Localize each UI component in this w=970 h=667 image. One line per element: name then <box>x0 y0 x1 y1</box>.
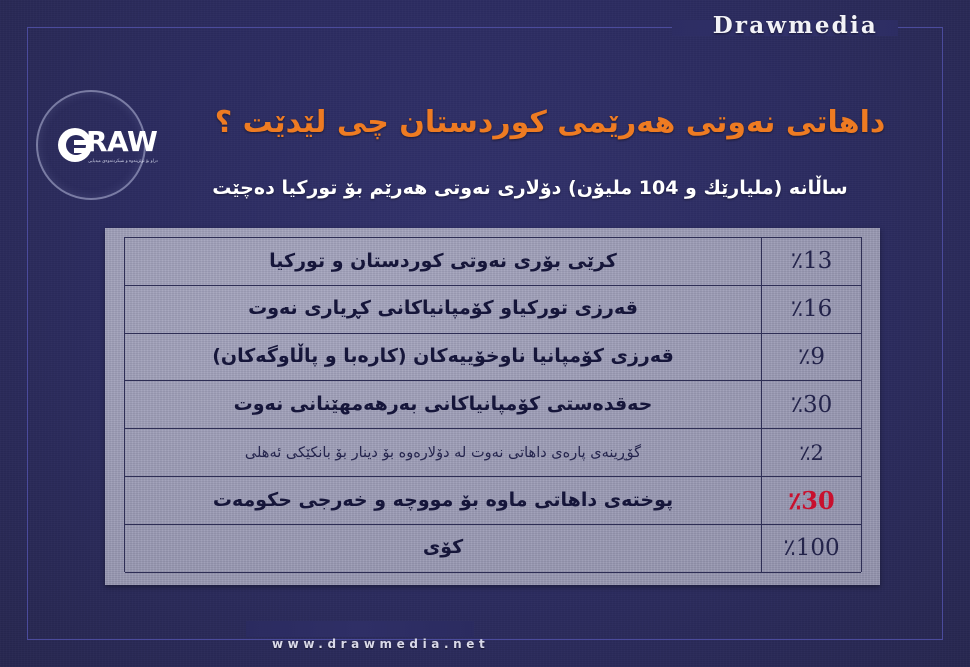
row-label: کۆی <box>125 525 761 572</box>
row-percentage: ٪30 <box>761 477 861 524</box>
footer-website-url: www.drawmedia.net <box>272 637 489 651</box>
logo-wordmark: RAW <box>86 128 157 156</box>
table-row: ٪100کۆی <box>125 525 861 573</box>
breakdown-table: ٪13کرێی بۆری نەوتی کوردستان و تورکیا٪16ق… <box>105 228 880 585</box>
row-label: کرێی بۆری نەوتی کوردستان و تورکیا <box>125 238 761 285</box>
brand-wordmark: Drawmedia <box>713 12 878 39</box>
row-label: حەقدەستی کۆمپانیاکانی بەرهەمهێنانی نەوت <box>125 381 761 428</box>
row-label: قەرزی کۆمپانیا ناوخۆییەکان (کارەبا و پاڵ… <box>125 334 761 381</box>
row-percentage: ٪13 <box>761 238 861 285</box>
row-percentage: ٪100 <box>761 525 861 572</box>
table-row: ٪13کرێی بۆری نەوتی کوردستان و تورکیا <box>125 238 861 286</box>
table-row: ٪16قەرزی تورکیاو کۆمپانیاکانی کڕیاری نەو… <box>125 286 861 334</box>
logo-subtext: دراو بۆ توێژینەوە و شیکردنەوەی میدیایی <box>88 158 158 164</box>
row-percentage: ٪2 <box>761 429 861 476</box>
row-percentage: ٪9 <box>761 334 861 381</box>
table-row: ٪30پوختەی داهاتی ماوە بۆ مووچە و خەرجی ح… <box>125 477 861 525</box>
row-label: قەرزی تورکیاو کۆمپانیاکانی کڕیاری نەوت <box>125 286 761 333</box>
row-percentage: ٪16 <box>761 286 861 333</box>
table-grid: ٪13کرێی بۆری نەوتی کوردستان و تورکیا٪16ق… <box>124 237 862 572</box>
infographic-canvas: Drawmedia RAW دراو بۆ توێژینەوە و شیکردن… <box>0 0 970 667</box>
table-row: ٪2گۆڕینەی پارەی داهاتی نەوت لە دۆلارەوە … <box>125 429 861 477</box>
row-label: گۆڕینەی پارەی داهاتی نەوت لە دۆلارەوە بۆ… <box>125 429 761 476</box>
row-label: پوختەی داهاتی ماوە بۆ مووچە و خەرجی حکوم… <box>125 477 761 524</box>
row-percentage: ٪30 <box>761 381 861 428</box>
table-row: ٪9قەرزی کۆمپانیا ناوخۆییەکان (کارەبا و پ… <box>125 334 861 382</box>
frame-gap-bottom <box>246 621 474 637</box>
page-title: داهاتی نەوتی هەرێمی کوردستان چی لێدێت ؟ <box>150 104 950 142</box>
page-subtitle: ساڵانە (ملیارێك و 104 ملیۆن) دۆلاری نەوت… <box>120 176 940 201</box>
table-row: ٪30حەقدەستی کۆمپانیاکانی بەرهەمهێنانی نە… <box>125 381 861 429</box>
